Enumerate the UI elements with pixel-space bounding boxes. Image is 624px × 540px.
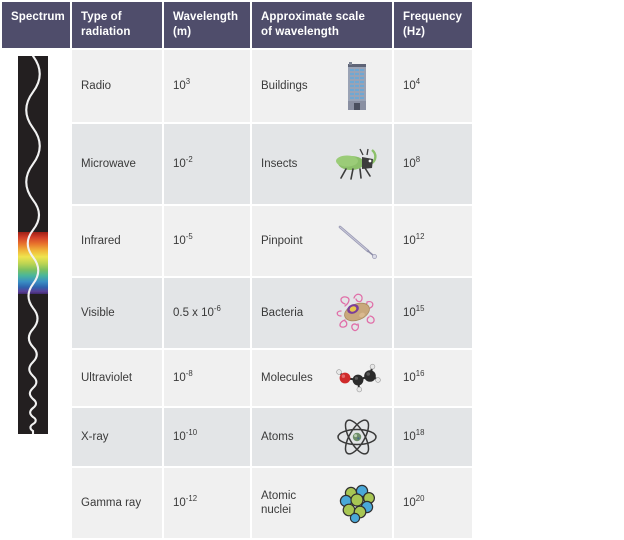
table-row: Infrared 10-5 Pinpoint [2, 206, 472, 276]
cell-approximate-scale: Molecules [252, 350, 392, 406]
frequency-exponent: 4 [416, 77, 420, 86]
header-spectrum: Spectrum [2, 2, 70, 48]
cell-type-of-radiation: Ultraviolet [72, 350, 162, 406]
scale-label: Atoms [261, 430, 294, 445]
building-icon [331, 61, 383, 111]
scale-label: Atomic nuclei [261, 489, 323, 519]
cell-type-of-radiation: Visible [72, 278, 162, 348]
electromagnetic-spectrum-table-container: Spectrum Type of radiation Wavelength (m… [0, 0, 464, 440]
frequency-exponent: 16 [416, 369, 425, 378]
cell-approximate-scale: Insects [252, 124, 392, 204]
scale-label: Molecules [261, 371, 313, 386]
frequency-mantissa: 10 [403, 431, 416, 443]
cell-type-of-radiation: Gamma ray [72, 468, 162, 538]
cell-wavelength: 10-12 [164, 468, 250, 538]
cell-approximate-scale: Pinpoint [252, 206, 392, 276]
cell-frequency: 108 [394, 124, 472, 204]
wavelength-exponent: -6 [214, 304, 221, 313]
cell-wavelength: 10-8 [164, 350, 250, 406]
wavelength-mantissa: 10 [173, 80, 186, 92]
bacteria-icon [331, 290, 383, 336]
sine-wave-graphic [18, 56, 48, 434]
frequency-mantissa: 10 [403, 307, 416, 319]
atom-icon [331, 417, 383, 457]
cell-frequency: 1016 [394, 350, 472, 406]
header-type-line-1: Type of [81, 11, 122, 23]
frequency-exponent: 8 [416, 155, 420, 164]
header-scale-line-1: Approximate scale [261, 11, 365, 23]
table-row: Visible 0.5 x 10-6 Bacteria [2, 278, 472, 348]
pin-needle-icon [331, 221, 383, 261]
cell-type-of-radiation: Microwave [72, 124, 162, 204]
cell-wavelength: 103 [164, 50, 250, 122]
wavelength-exponent: -5 [186, 232, 193, 241]
header-wavelength: Wavelength (m) [164, 2, 250, 48]
wavelength-exponent: -2 [186, 155, 193, 164]
wavelength-mantissa: 0.5 x 10 [173, 307, 214, 319]
cell-wavelength: 0.5 x 10-6 [164, 278, 250, 348]
electromagnetic-spectrum-table: Spectrum Type of radiation Wavelength (m… [0, 0, 474, 540]
molecule-icon [331, 361, 383, 395]
header-wavelength-line-1: Wavelength [173, 11, 238, 23]
scale-label: Buildings [261, 79, 308, 94]
cell-approximate-scale: Buildings [252, 50, 392, 122]
table-body: Radio 103 Buildings [2, 50, 472, 538]
cell-frequency: 1018 [394, 408, 472, 466]
electromagnetic-wave-strip [18, 56, 48, 434]
wavelength-exponent: -12 [186, 494, 197, 503]
cell-wavelength: 10-10 [164, 408, 250, 466]
cell-approximate-scale: Atomic nuclei [252, 468, 392, 538]
insect-icon [331, 146, 383, 182]
scale-label: Bacteria [261, 306, 303, 321]
cell-frequency: 1012 [394, 206, 472, 276]
wavelength-exponent: 3 [186, 77, 190, 86]
cell-frequency: 1020 [394, 468, 472, 538]
header-row: Spectrum Type of radiation Wavelength (m… [2, 2, 472, 48]
wavelength-mantissa: 10 [173, 158, 186, 170]
header-type-of-radiation: Type of radiation [72, 2, 162, 48]
header-type-line-2: radiation [81, 26, 130, 38]
cell-frequency: 104 [394, 50, 472, 122]
table-row: Microwave 10-2 Insects [2, 124, 472, 204]
frequency-mantissa: 10 [403, 235, 416, 247]
wavelength-mantissa: 10 [173, 372, 186, 384]
cell-wavelength: 10-5 [164, 206, 250, 276]
header-frequency-line-2: (Hz) [403, 26, 425, 38]
scale-label: Insects [261, 157, 297, 172]
cell-approximate-scale: Bacteria [252, 278, 392, 348]
cell-type-of-radiation: X-ray [72, 408, 162, 466]
frequency-mantissa: 10 [403, 497, 416, 509]
frequency-mantissa: 10 [403, 158, 416, 170]
table-row: Radio 103 Buildings [2, 50, 472, 122]
frequency-exponent: 15 [416, 304, 425, 313]
table-header: Spectrum Type of radiation Wavelength (m… [2, 2, 472, 48]
frequency-exponent: 18 [416, 428, 425, 437]
cell-type-of-radiation: Radio [72, 50, 162, 122]
cell-wavelength: 10-2 [164, 124, 250, 204]
header-frequency: Frequency (Hz) [394, 2, 472, 48]
wavelength-mantissa: 10 [173, 497, 186, 509]
frequency-exponent: 20 [416, 494, 425, 503]
wavelength-mantissa: 10 [173, 235, 186, 247]
table-row: Ultraviolet 10-8 Molecules [2, 350, 472, 406]
header-approximate-scale: Approximate scale of wavelength [252, 2, 392, 48]
cell-frequency: 1015 [394, 278, 472, 348]
atomic-nucleus-icon [331, 481, 383, 525]
wavelength-mantissa: 10 [173, 431, 186, 443]
wavelength-exponent: -8 [186, 369, 193, 378]
table-row: Gamma ray 10-12 Atomic nuclei [2, 468, 472, 538]
header-frequency-line-1: Frequency [403, 11, 462, 23]
scale-label: Pinpoint [261, 234, 303, 249]
frequency-mantissa: 10 [403, 372, 416, 384]
header-wavelength-line-2: (m) [173, 26, 191, 38]
frequency-exponent: 12 [416, 232, 425, 241]
wavelength-exponent: -10 [186, 428, 197, 437]
cell-type-of-radiation: Infrared [72, 206, 162, 276]
header-spectrum-line-1: Spectrum [11, 11, 65, 23]
header-scale-line-2: of wavelength [261, 26, 339, 38]
cell-approximate-scale: Atoms [252, 408, 392, 466]
frequency-mantissa: 10 [403, 80, 416, 92]
table-row: X-ray 10-10 Atoms [2, 408, 472, 466]
